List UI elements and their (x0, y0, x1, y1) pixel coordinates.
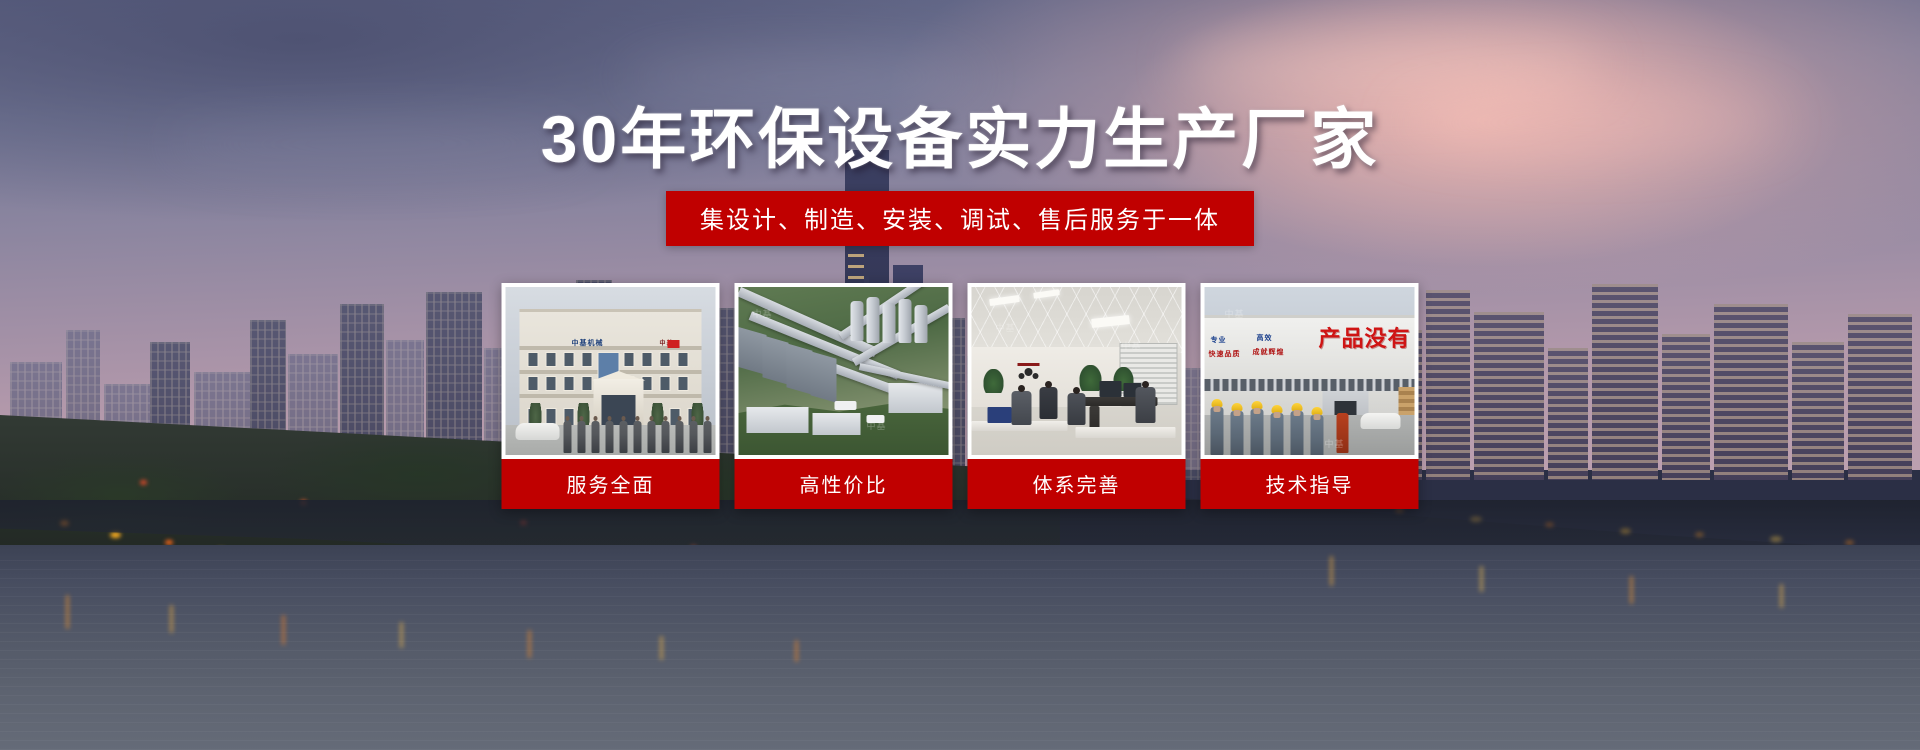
card-caption: 体系完善 (968, 459, 1186, 509)
feature-card[interactable]: 产品没有 专业 快速品质 高效 成就辉煌 (1201, 283, 1419, 509)
card-photo-office-interior: 中基 中基 (972, 287, 1182, 455)
factory-slogan: 高效 (1257, 333, 1273, 343)
hero-banner: 30年环保设备实力生产厂家 集设计、制造、安装、调试、售后服务于一体 (0, 0, 1920, 750)
factory-slogan: 成就辉煌 (1253, 347, 1285, 357)
banner-content: 30年环保设备实力生产厂家 集设计、制造、安装、调试、售后服务于一体 (0, 0, 1920, 750)
feature-card-list: 中基机械 中基 (502, 283, 1419, 509)
subtitle-badge: 集设计、制造、安装、调试、售后服务于一体 (666, 191, 1254, 246)
feature-card[interactable]: 中基机械 中基 (502, 283, 720, 509)
card-photo-plant-aerial: 中基 中基 (739, 287, 949, 455)
wall-decal-icon (1016, 361, 1042, 383)
factory-slogan: 快速品质 (1209, 349, 1241, 359)
feature-card[interactable]: 中基 中基 体系完善 (968, 283, 1186, 509)
building-signage: 中基机械 (572, 338, 604, 348)
page-title: 30年环保设备实力生产厂家 (0, 106, 1920, 172)
factory-signage: 产品没有 (1318, 321, 1410, 353)
feature-card[interactable]: 中基 中基 高性价比 (735, 283, 953, 509)
card-photo-office-building: 中基机械 中基 (506, 287, 716, 455)
card-caption: 服务全面 (502, 459, 720, 509)
factory-slogan: 专业 (1211, 335, 1227, 345)
card-caption: 技术指导 (1201, 459, 1419, 509)
card-caption: 高性价比 (735, 459, 953, 509)
card-photo-factory-exterior: 产品没有 专业 快速品质 高效 成就辉煌 (1205, 287, 1415, 455)
